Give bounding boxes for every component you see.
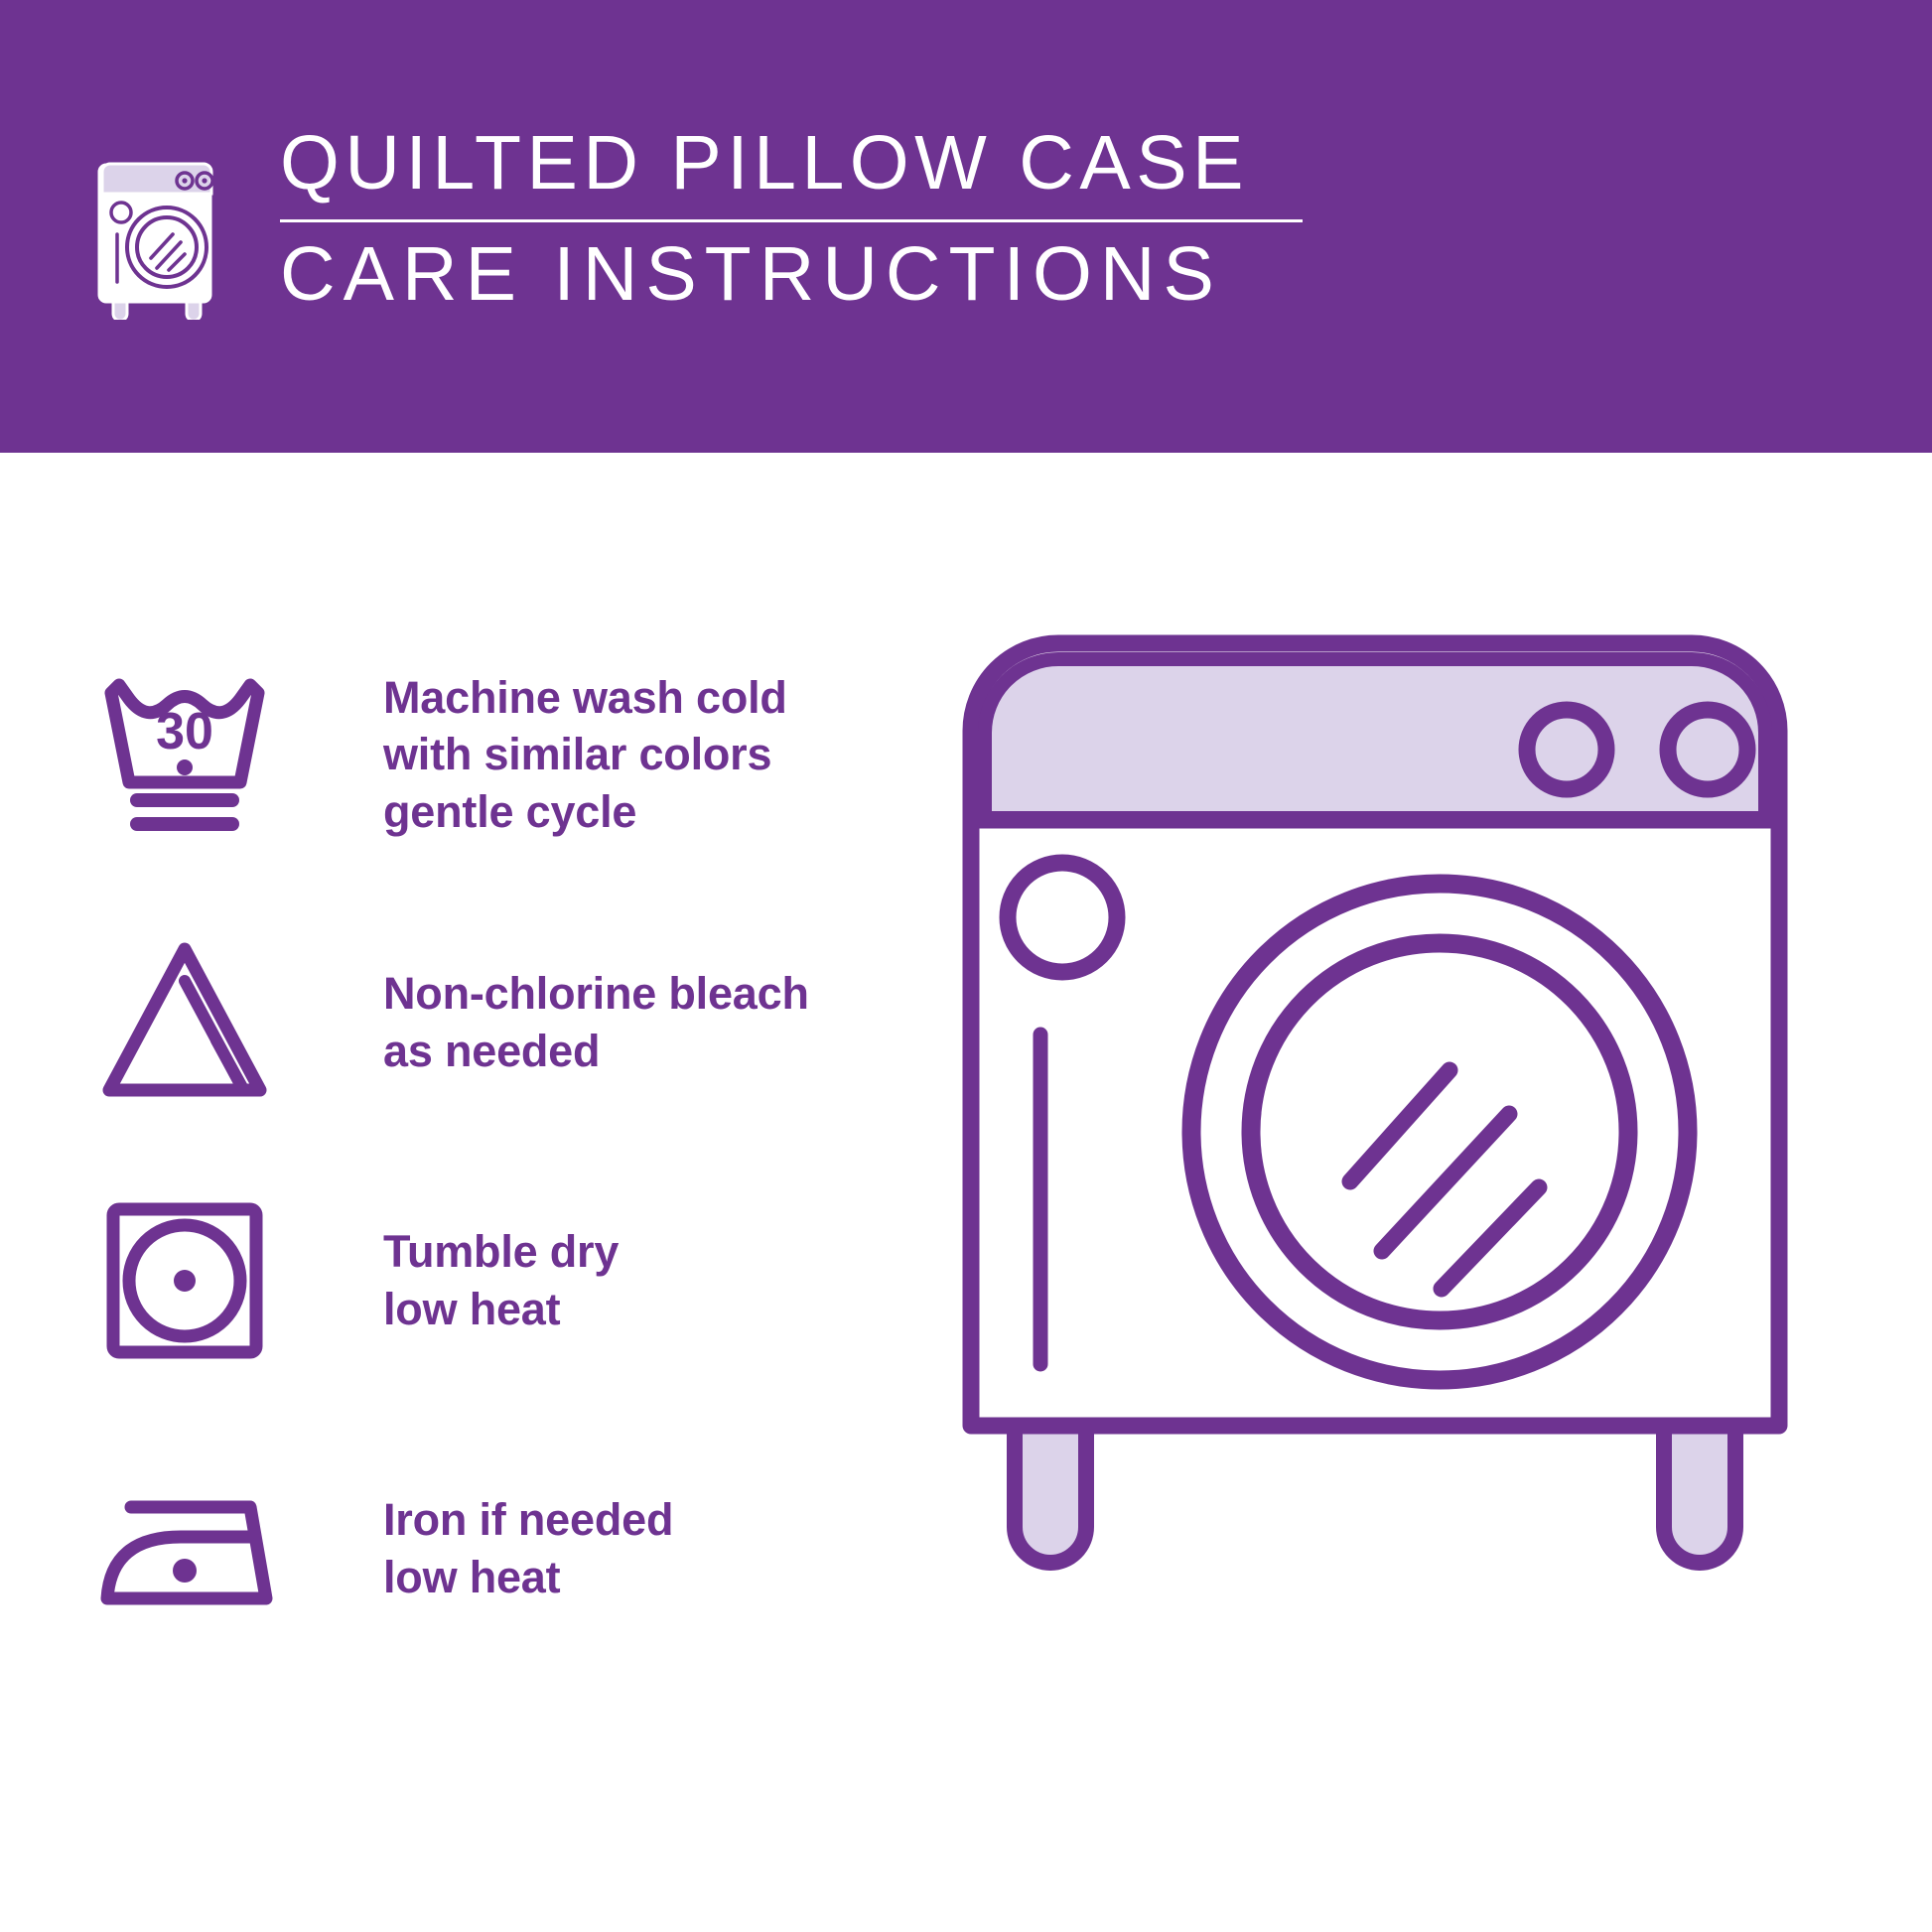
instruction-label: Machine wash cold with similar colors ge… [383,669,787,841]
instruction-row-iron: Iron if needed low heat [85,1449,939,1648]
instruction-line: gentle cycle [383,783,787,841]
instruction-line: Machine wash cold [383,669,787,727]
instruction-line: low heat [383,1549,673,1606]
instruction-line: low heat [383,1281,619,1338]
header-text-block: QUILTED PILLOW CASE CARE INSTRUCTIONS [280,125,1332,313]
instruction-row-bleach: Non-chlorine bleach as needed [85,923,939,1122]
instruction-line: Iron if needed [383,1491,673,1549]
instruction-line: as needed [383,1023,809,1080]
instruction-line: Non-chlorine bleach [383,965,809,1023]
header-banner: QUILTED PILLOW CASE CARE INSTRUCTIONS [0,0,1932,453]
header-divider [280,219,1303,222]
front-load-washing-machine-illustration [953,625,1866,1876]
leg-right [1664,1420,1735,1563]
instruction-line: with similar colors [383,726,787,783]
leg-left [1015,1420,1086,1563]
page-title: QUILTED PILLOW CASE [280,125,1332,202]
instruction-line: Tumble dry [383,1223,619,1281]
instruction-row-machine-wash: 30 Machine wash cold with similar colors… [85,655,939,854]
instruction-label: Iron if needed low heat [383,1491,673,1605]
tumble-dry-square-icon [85,1181,284,1380]
washing-machine-icon [77,131,236,320]
iron-low-heat-icon [85,1449,284,1648]
bleach-triangle-icon [85,923,284,1122]
instruction-label: Non-chlorine bleach as needed [383,965,809,1079]
instruction-label: Tumble dry low heat [383,1223,619,1337]
wash-tub-30-icon: 30 [85,655,284,854]
instruction-row-tumble-dry: Tumble dry low heat [85,1181,939,1380]
page-subtitle: CARE INSTRUCTIONS [280,236,1332,313]
svg-text:30: 30 [156,703,213,760]
